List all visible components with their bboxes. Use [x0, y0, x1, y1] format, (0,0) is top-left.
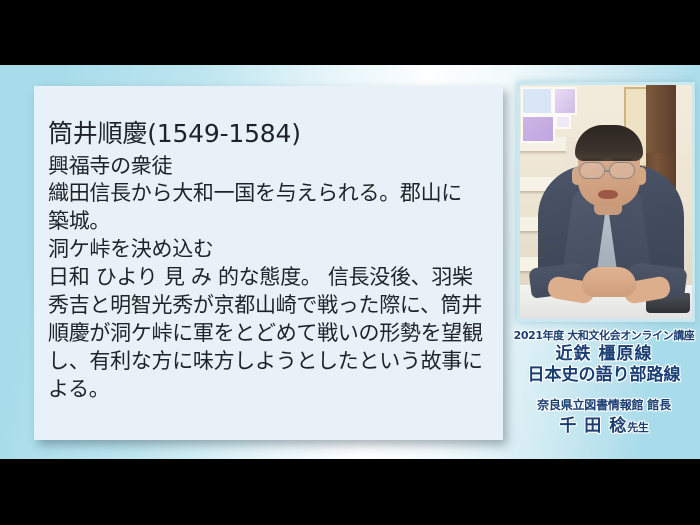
wall-panel-blue [521, 87, 553, 115]
eyeglasses-lens-left [579, 162, 605, 179]
wall-panel-pale [555, 115, 571, 129]
caption-spacer [508, 386, 700, 397]
caption-speaker-name: 千 田 稔先生 [508, 415, 700, 437]
caption-route-line-2: 日本史の語り部路線 [508, 365, 700, 386]
slide-line-2: 織田信長から大和一国を与えられる。郡山に [48, 180, 493, 208]
caption-affiliation: 奈良県立図書情報館 館長 [508, 397, 700, 414]
caption-course-title: 2021年度 大和文化会オンライン講座 [508, 328, 700, 344]
letterbox-top [0, 0, 700, 65]
slide-text-block: 筒井順慶(1549-1584) 興福寺の衆徒 織田信長から大和一国を与えられる。… [48, 118, 493, 404]
wall-panel-violet [521, 115, 555, 143]
slide-line-1: 興福寺の衆徒 [48, 153, 493, 181]
speaker-video-inset[interactable] [517, 82, 695, 322]
caption-route-line-1: 近鉄 橿原線 [508, 344, 700, 365]
slide-title: 筒井順慶(1549-1584) [48, 118, 493, 151]
slide-line-4: 洞ケ峠を決め込む [48, 236, 493, 264]
eyeglasses-bridge [605, 170, 610, 172]
wall-panel-lavender [553, 87, 577, 115]
speaker-honorific: 先生 [627, 421, 648, 434]
slide-stage: 筒井順慶(1549-1584) 興福寺の衆徒 織田信長から大和一国を与えられる。… [0, 65, 700, 459]
speaker-clasped-hands [582, 267, 636, 297]
speaker-hair [575, 125, 643, 161]
letterbox-bottom [0, 459, 700, 525]
speaker-name-text: 千 田 稔 [559, 416, 627, 436]
eyeglasses-lens-right [609, 162, 635, 179]
caption-block: 2021年度 大和文化会オンライン講座 近鉄 橿原線 日本史の語り部路線 奈良県… [508, 328, 700, 437]
wood-door-panel-upper [646, 85, 676, 153]
slide-paragraph: 日和 ひより 見 み 的な態度。 信長没後、羽柴秀吉と明智光秀が京都山崎で戦った… [48, 264, 493, 404]
speaker-ear-right [636, 167, 646, 185]
speaker-eyebrow-left [582, 158, 602, 161]
slide-line-3: 築城。 [48, 208, 493, 236]
speaker-eyebrow-right [612, 158, 632, 161]
slide-card: 筒井順慶(1549-1584) 興福寺の衆徒 織田信長から大和一国を与えられる。… [34, 86, 503, 440]
video-frame: 筒井順慶(1549-1584) 興福寺の衆徒 織田信長から大和一国を与えられる。… [0, 0, 700, 525]
speaker-mouth [598, 190, 618, 199]
